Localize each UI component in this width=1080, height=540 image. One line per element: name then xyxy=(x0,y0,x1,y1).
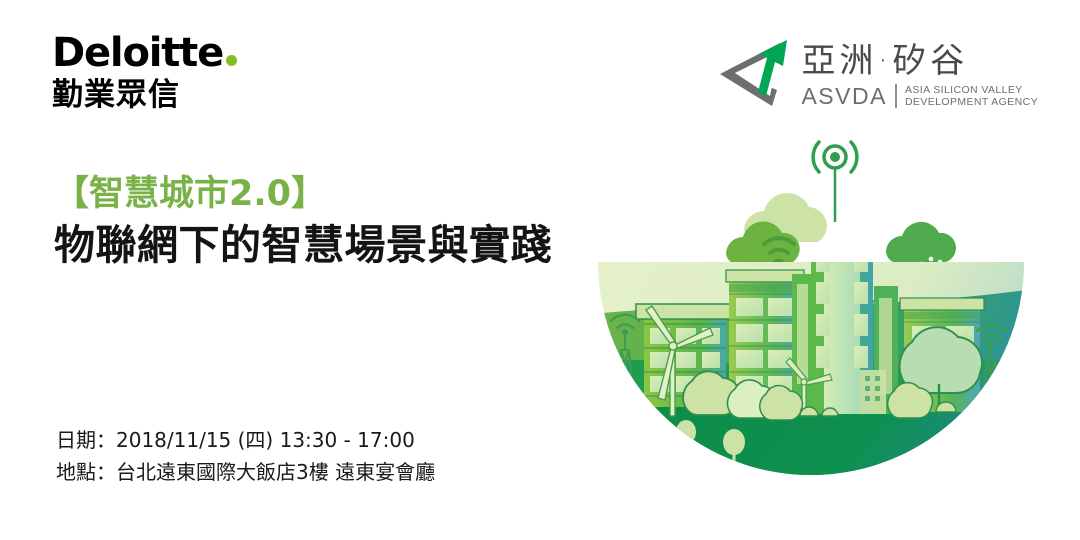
asvda-divider xyxy=(895,84,897,108)
cityscape-group xyxy=(586,216,1036,468)
asvda-subtitle-line2: DEVELOPMENT AGENCY xyxy=(905,96,1038,108)
title-block: 【智慧城市2.0】 物聯網下的智慧場景與實踐 xyxy=(54,172,614,271)
event-info-block: 日期：2018/11/15 (四) 13:30 - 17:00 地點：台北遠東國… xyxy=(56,424,616,488)
poster-canvas: Deloitte 勤業眾信 亞洲·矽谷 ASVDA ASIA SILICON V… xyxy=(0,0,1080,540)
deloitte-logo: Deloitte 勤業眾信 xyxy=(52,32,302,122)
asvda-logo: 亞洲·矽谷 ASVDA ASIA SILICON VALLEY DEVELOPM… xyxy=(717,28,1038,120)
building-icon xyxy=(860,370,886,414)
deloitte-wordmark-text: Deloitte xyxy=(52,30,223,76)
page-subtitle-topic: 【智慧城市2.0】 xyxy=(54,172,614,216)
asvda-arrow-mark-icon xyxy=(717,34,795,114)
page-title: 物聯網下的智慧場景與實踐 xyxy=(54,219,614,271)
asvda-english-row: ASVDA ASIA SILICON VALLEY DEVELOPMENT AG… xyxy=(801,84,1038,108)
event-date: 日期：2018/11/15 (四) 13:30 - 17:00 xyxy=(56,424,616,456)
cloud-icon xyxy=(886,222,956,262)
smart-city-globe-illustration xyxy=(586,112,1036,530)
asvda-subtitle-line1: ASIA SILICON VALLEY xyxy=(905,84,1038,96)
signal-dot-icon xyxy=(830,152,840,162)
tree-icon xyxy=(646,412,666,448)
asvda-abbreviation: ASVDA xyxy=(801,84,886,108)
deloitte-chinese-name: 勤業眾信 xyxy=(52,76,302,114)
deloitte-dot-icon xyxy=(226,55,237,66)
asvda-text-block: 亞洲·矽谷 ASVDA ASIA SILICON VALLEY DEVELOPM… xyxy=(801,41,1038,108)
asvda-chinese-name: 亞洲·矽谷 xyxy=(801,41,1038,81)
event-venue: 地點：台北遠東國際大飯店3樓 遠東宴會廳 xyxy=(56,456,616,488)
deloitte-wordmark: Deloitte xyxy=(52,32,302,74)
asvda-subtitle: ASIA SILICON VALLEY DEVELOPMENT AGENCY xyxy=(905,84,1038,108)
